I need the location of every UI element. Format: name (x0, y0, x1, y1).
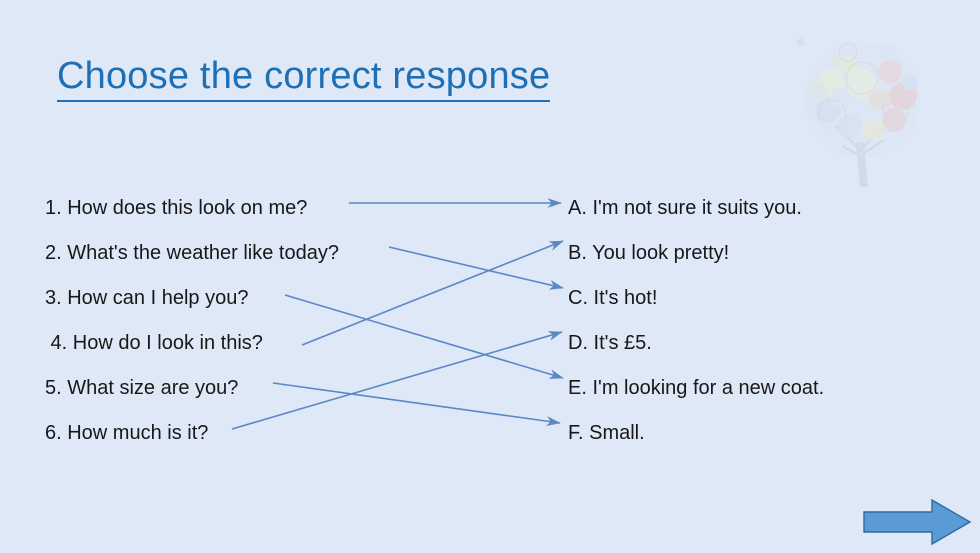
answers-column: A. I'm not sure it suits you. B. You loo… (568, 186, 968, 456)
question-item-1[interactable]: 1. How does this look on me? (45, 186, 425, 231)
question-item-3[interactable]: 3. How can I help you? (45, 276, 425, 321)
answer-item-d[interactable]: D. It's £5. (568, 321, 968, 366)
questions-column: 1. How does this look on me? 2. What's t… (45, 186, 425, 456)
question-item-2[interactable]: 2. What's the weather like today? (45, 231, 425, 276)
page-title: Choose the correct response (57, 55, 550, 102)
page-title-text: Choose the correct response (57, 55, 550, 102)
answer-item-b[interactable]: B. You look pretty! (568, 231, 968, 276)
next-arrow-button[interactable] (862, 498, 974, 546)
tree-illustration-icon (770, 22, 955, 192)
answer-item-a[interactable]: A. I'm not sure it suits you. (568, 186, 968, 231)
answer-item-c[interactable]: C. It's hot! (568, 276, 968, 321)
question-item-4[interactable]: 4. How do I look in this? (45, 321, 425, 366)
question-item-6[interactable]: 6. How much is it? (45, 411, 425, 456)
question-item-5[interactable]: 5. What size are you? (45, 366, 425, 411)
right-arrow-icon (864, 500, 970, 544)
answer-item-e[interactable]: E. I'm looking for a new coat. (568, 366, 968, 411)
answer-item-f[interactable]: F. Small. (568, 411, 968, 456)
slide-canvas: Choose the correct response 1. How does … (0, 0, 980, 553)
